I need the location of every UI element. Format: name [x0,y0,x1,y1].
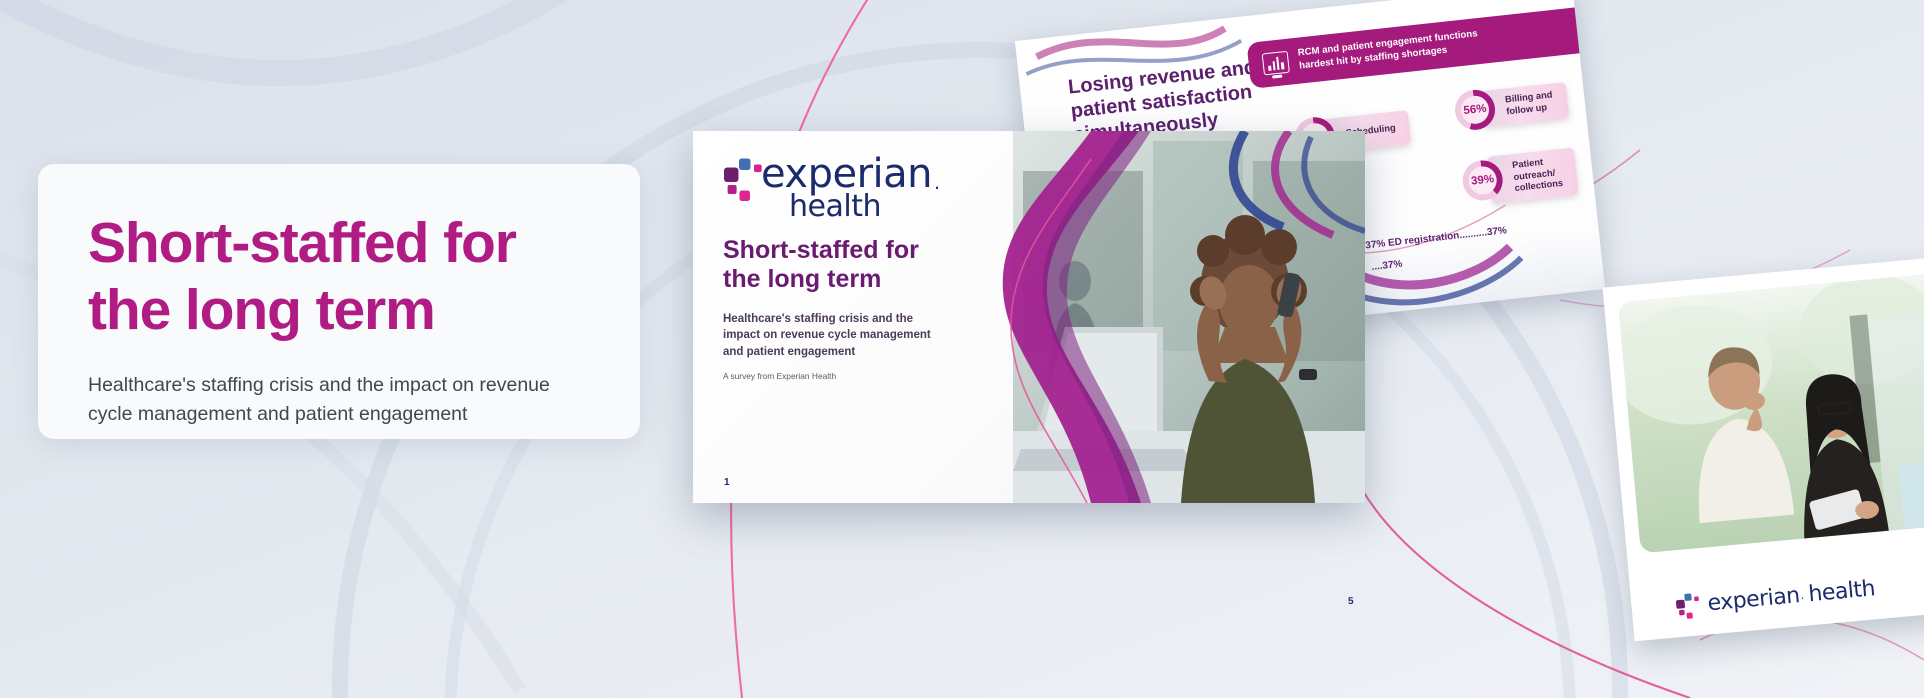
stat-value: 56% [1463,103,1487,117]
stat-value: 39% [1471,174,1495,188]
health-wordmark: health [1807,576,1876,607]
experian-dots-icon [1675,592,1703,620]
cover-photo [1013,131,1365,503]
report-page-photo: experian . health [1603,258,1924,641]
hero-banner: Short-staffed for the long term Healthca… [0,0,1924,698]
cover-photo-art [1013,131,1365,503]
report-cover: experian . health Short-staffed for the … [693,131,1365,503]
stats-page-number: 5 [1348,596,1354,607]
document-stack: Losing revenue and patient satisfaction … [0,0,1924,698]
cover-byline: A survey from Experian Health [723,371,836,381]
registered-dot-icon: . [1800,588,1804,601]
experian-wordmark: experian [1707,583,1801,616]
cover-experian-logo: experian . health [723,156,940,222]
cover-title: Short-staffed for the long term [723,236,1003,295]
stats-band-label: RCM and patient engagement functions har… [1297,28,1479,73]
registered-dot-icon: . [934,174,940,193]
bar-chart-monitor-icon [1262,51,1290,76]
experian-dots-icon [723,158,765,202]
experian-wordmark: experian [761,156,932,193]
colleagues-photo [1618,272,1924,553]
cover-subtitle: Healthcare's staffing crisis and the imp… [723,311,968,360]
colleagues-photo-art [1618,272,1924,553]
cover-page-number: 1 [724,477,730,488]
photo-page-logo-bar: experian . health [1629,550,1924,642]
